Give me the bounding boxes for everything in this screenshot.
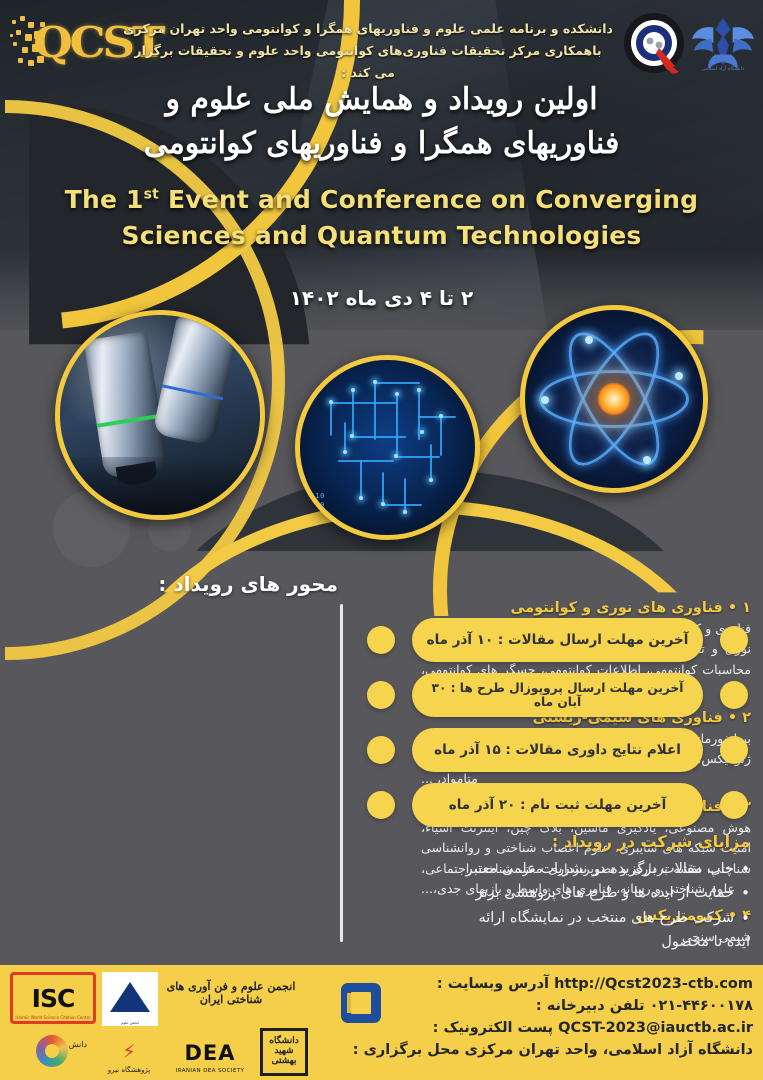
website-row: http://Qcst2023-ctb.com آدرس وبسایت :: [343, 973, 753, 995]
lightning-bolt-icon: ⚡: [122, 1041, 135, 1063]
host-organizations: دانشکده و برنامه علمی علوم و فناوریهای ه…: [123, 18, 613, 84]
topics-heading: محور های رویداد :: [158, 572, 338, 596]
english-title-line-2: Sciences and Quantum Technologies: [0, 218, 763, 254]
english-title-rest: Event and Conference on Converging: [168, 185, 698, 214]
website-label: آدرس وبسایت :: [437, 976, 549, 992]
atom-image: [525, 310, 703, 488]
cognitive-society-caption: انجمن علوم: [102, 1021, 158, 1025]
microscope-photo-circle: [55, 310, 265, 520]
title-fa-line-2: فناوریهای همگرا و فناوریهای کوانتومی: [0, 122, 763, 166]
microscope-stage: [60, 457, 260, 515]
phone-label: تلفن دبیرخانه :: [536, 998, 645, 1014]
isc-logo-text: ISC: [32, 984, 75, 1013]
isc-logo: ISC Islamic World Science Citation Cente…: [10, 972, 96, 1024]
website-value[interactable]: http://Qcst2023-ctb.com: [554, 976, 753, 992]
page-title: اولین رویداد و همایش ملی علوم و فناوریها…: [0, 78, 763, 165]
color-wheel-icon: [36, 1035, 68, 1067]
topic-title: ۱ • فناوری های نوری و کوانتومی: [421, 600, 751, 616]
benefit-item: چاپ مقالات برگزیده در نشریات علمی معتبر: [370, 858, 750, 881]
pill-dot-right: [720, 681, 748, 709]
electron-1: [541, 396, 549, 404]
shahid-beheshti-text: دانشگاه شهید بهشتی: [263, 1037, 305, 1067]
electron-2: [675, 372, 683, 380]
color-wheel-caption: دانش: [69, 1040, 87, 1049]
deadline-pill[interactable]: آخرین مهلت ارسال پروپوزال طرح ها : ۳۰ آب…: [412, 673, 703, 717]
electron-3: [585, 336, 593, 344]
digital-brain-photo-circle: 0110010010011001: [295, 355, 480, 540]
ordinal-suffix: st: [144, 187, 159, 203]
deadline-pill[interactable]: آخرین مهلت ثبت نام : ۲۰ آذر ماه: [412, 783, 703, 827]
cognitive-society-logo: انجمن علوم: [102, 972, 158, 1026]
benefit-item: ایده تا محصول: [370, 931, 750, 954]
venue-row: دانشگاه آزاد اسلامی، واحد تهران مرکزی مح…: [343, 1039, 753, 1061]
english-title: The 1st Event and Conference on Convergi…: [0, 182, 763, 255]
venue-label: محل برگزاری :: [353, 1042, 460, 1058]
benefits-heading: مزایای شرکت در رویداد :: [370, 832, 750, 851]
atom-photo-circle: [520, 305, 708, 493]
deadlines-list: آخرین مهلت ارسال مقالات : ۱۰ آذر ماه آخر…: [365, 618, 750, 838]
email-row: QCST-2023@iauctb.ac.ir پست الکترونیک :: [343, 1017, 753, 1039]
deadline-pill[interactable]: اعلام نتایج داوری مقالات : ۱۵ آذر ماه: [412, 728, 703, 772]
dea-logo-caption: IRANIAN DEA SOCIETY: [166, 1068, 254, 1074]
phone-row: ۰۲۱-۴۴۶۰۰۱۷۸ تلفن دبیرخانه :: [343, 995, 753, 1017]
azad-logo-caption: دانشگاه آزاد اسلامی: [691, 66, 755, 72]
email-label: پست الکترونیک :: [433, 1020, 553, 1036]
deadline-row: آخرین مهلت ثبت نام : ۲۰ آذر ماه: [365, 783, 750, 827]
pill-dot-right: [720, 791, 748, 819]
atom-nucleus: [597, 382, 631, 416]
microscope-image: [60, 315, 260, 515]
host-line-1: دانشکده و برنامه علمی علوم و فناوریهای ه…: [123, 18, 613, 40]
conference-poster: QCST دانشگاه آزاد اسلامی دانشکده و بر: [0, 0, 763, 1080]
quantum-center-logo: [623, 12, 685, 74]
pill-dot-left: [367, 736, 395, 764]
color-wheel-logo: دانش: [16, 1030, 88, 1072]
isc-logo-caption: Islamic World Science Citation Center: [13, 1015, 93, 1020]
pill-dot-left: [367, 681, 395, 709]
cognitive-society-name: انجمن علوم و فن آوری های شناختی ایران: [166, 980, 296, 1006]
binary-digits: 0110010010011001: [306, 492, 325, 527]
pill-dot-right: [720, 626, 748, 654]
english-title-pre: The 1: [65, 185, 144, 214]
pill-dot-right: [720, 736, 748, 764]
niroo-caption: پژوهشگاه نیرو: [94, 1066, 164, 1074]
contact-info: http://Qcst2023-ctb.com آدرس وبسایت : ۰۲…: [343, 973, 753, 1061]
title-fa-line-1: اولین رویداد و همایش ملی علوم و: [0, 78, 763, 122]
benefit-item: شرکت طرح های منتخب در نمایشگاه ارائه: [370, 907, 750, 930]
objective-lens-2: [152, 316, 238, 446]
cognitive-society-icon: [110, 982, 150, 1012]
digital-brain-image: 0110010010011001: [300, 360, 475, 535]
deadline-row: آخرین مهلت ارسال پروپوزال طرح ها : ۳۰ آب…: [365, 673, 750, 717]
shahid-beheshti-logo: دانشگاه شهید بهشتی: [260, 1028, 308, 1076]
venue-value: دانشگاه آزاد اسلامی، واحد تهران مرکزی: [465, 1042, 753, 1058]
dea-society-logo: DEA IRANIAN DEA SOCIETY: [166, 1032, 254, 1074]
benefits-section: مزایای شرکت در رویداد : چاپ مقالات برگزی…: [370, 832, 750, 956]
phone-value: ۰۲۱-۴۴۶۰۰۱۷۸: [650, 998, 753, 1014]
azad-university-logo: دانشگاه آزاد اسلامی: [691, 14, 755, 88]
column-divider: [340, 604, 343, 942]
sponsor-logos: ISC Islamic World Science Citation Cente…: [6, 970, 336, 1075]
niroo-research-logo: ⚡ پژوهشگاه نیرو: [94, 1030, 164, 1074]
dea-logo-text: DEA: [184, 1041, 235, 1065]
email-value[interactable]: QCST-2023@iauctb.ac.ir: [558, 1020, 753, 1036]
english-title-line-1: The 1st Event and Conference on Convergi…: [0, 182, 763, 218]
benefits-list: چاپ مقالات برگزیده در نشریات علمی معتبر …: [370, 858, 750, 955]
pill-dot-left: [367, 626, 395, 654]
event-date: ۲ تا ۴ دی ماه ۱۴۰۲: [0, 286, 763, 310]
deadline-pill[interactable]: آخرین مهلت ارسال مقالات : ۱۰ آذر ماه: [412, 618, 703, 662]
deadline-row: اعلام نتایج داوری مقالات : ۱۵ آذر ماه: [365, 728, 750, 772]
electron-4: [643, 456, 651, 464]
footer-bar: ISC Islamic World Science Citation Cente…: [0, 965, 763, 1080]
pill-dot-left: [367, 791, 395, 819]
benefit-item: حمایت از ایده ها و طرح های پژوهشی برتر: [370, 882, 750, 905]
deadline-row: آخرین مهلت ارسال مقالات : ۱۰ آذر ماه: [365, 618, 750, 662]
